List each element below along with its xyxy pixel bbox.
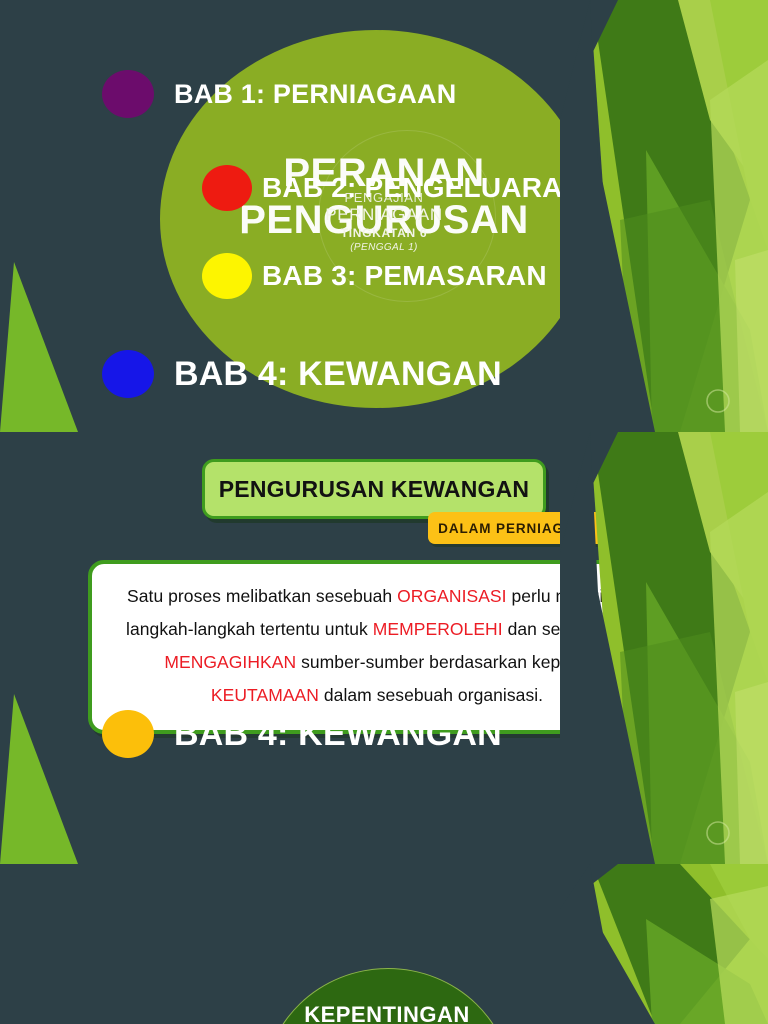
- chapter-item-bab-3[interactable]: BAB 3: PEMASARAN: [202, 253, 547, 299]
- definition-seg-5: dalam sesebuah organisasi.: [319, 685, 543, 705]
- slide-deck: PERANAN PENGURUSAN PENGAJIAN PERNIAGAAN …: [0, 0, 768, 1024]
- bullet-circle-icon: [102, 70, 154, 118]
- definition-keyword-4: KEUTAMAAN: [211, 685, 319, 705]
- slide2-title-text: PENGURUSAN KEWANGAN: [219, 476, 529, 503]
- definition-keyword-1: ORGANISASI: [397, 586, 506, 606]
- definition-seg-3: dan seterusnya: [503, 619, 628, 639]
- bullet-circle-icon: [202, 165, 252, 211]
- definition-card: Satu proses melibatkan sesebuah ORGANISA…: [88, 560, 666, 734]
- slide-1[interactable]: PERANAN PENGURUSAN PENGAJIAN PERNIAGAAN …: [0, 0, 768, 432]
- left-triangle-decoration: [0, 262, 90, 432]
- chapter-label: BAB 1: PERNIAGAAN: [174, 79, 456, 110]
- definition-keyword-2: MEMPEROLEHI: [373, 619, 503, 639]
- bullet-circle-icon: [202, 253, 252, 299]
- chapter-item-bab-2[interactable]: BAB 2: PENGELUARAN: [202, 165, 583, 211]
- definition-seg-1: Satu proses melibatkan sesebuah: [127, 586, 397, 606]
- slide2-badge-text: DALAM PERNIAGAAN: [438, 521, 596, 536]
- slide2-badge[interactable]: DALAM PERNIAGAAN: [428, 512, 606, 544]
- bullet-circle-icon: [102, 710, 154, 758]
- definition-seg-4: sumber-sumber berdasarkan kepada: [296, 652, 589, 672]
- slide-3[interactable]: KEPENTINGAN: [0, 864, 768, 1024]
- chapter-item-bab-1[interactable]: BAB 1: PERNIAGAAN: [102, 70, 456, 118]
- slide3-circle-label: KEPENTINGAN: [263, 1002, 511, 1024]
- right-chevron-decoration: [560, 864, 768, 1024]
- chapter-item-bab-4[interactable]: BAB 4: KEWANGAN: [102, 350, 502, 398]
- chapter-label: BAB 3: PEMASARAN: [262, 260, 547, 292]
- chapter-label: BAB 4: KEWANGAN: [174, 715, 502, 754]
- definition-paragraph: Satu proses melibatkan sesebuah ORGANISA…: [114, 580, 640, 712]
- slide2-title-chip[interactable]: PENGURUSAN KEWANGAN: [202, 459, 546, 519]
- bullet-circle-icon: [102, 350, 154, 398]
- chapter-label: BAB 4: KEWANGAN: [174, 355, 502, 394]
- definition-keyword-3: MENGAGIHKAN: [164, 652, 296, 672]
- slide-2[interactable]: PENGURUSAN KEWANGAN DALAM PERNIAGAAN Sat…: [0, 432, 768, 864]
- left-triangle-decoration: [0, 694, 90, 864]
- chapter-label: BAB 2: PENGELUARAN: [262, 172, 583, 204]
- chapter-item-bab-4-slide2[interactable]: BAB 4: KEWANGAN: [102, 710, 502, 758]
